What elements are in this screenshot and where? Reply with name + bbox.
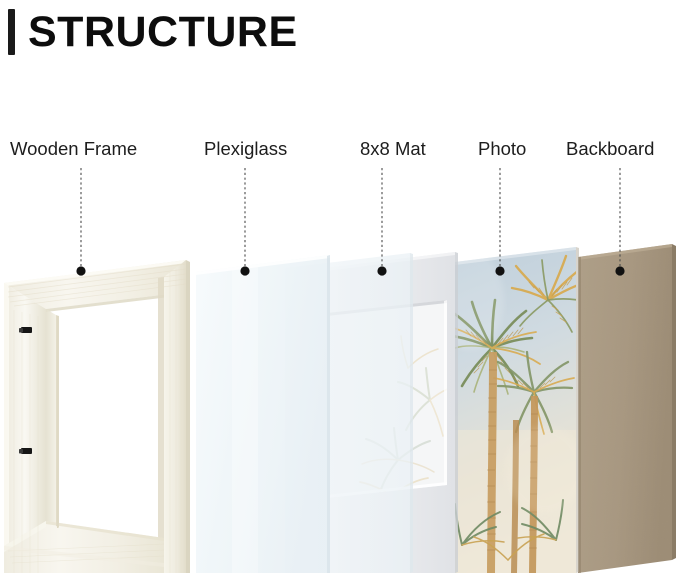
layer-photo-art [436,247,586,573]
layer-backboard-art [578,244,676,573]
exploded-layer-stack [0,0,679,573]
layer-plexiglass-art [193,253,413,573]
structure-diagram-page: STRUCTURE Wooden Frame Plexiglass 8x8 Ma… [0,0,679,573]
leader-lines [81,168,620,266]
layer-wooden-frame-art [4,260,190,573]
